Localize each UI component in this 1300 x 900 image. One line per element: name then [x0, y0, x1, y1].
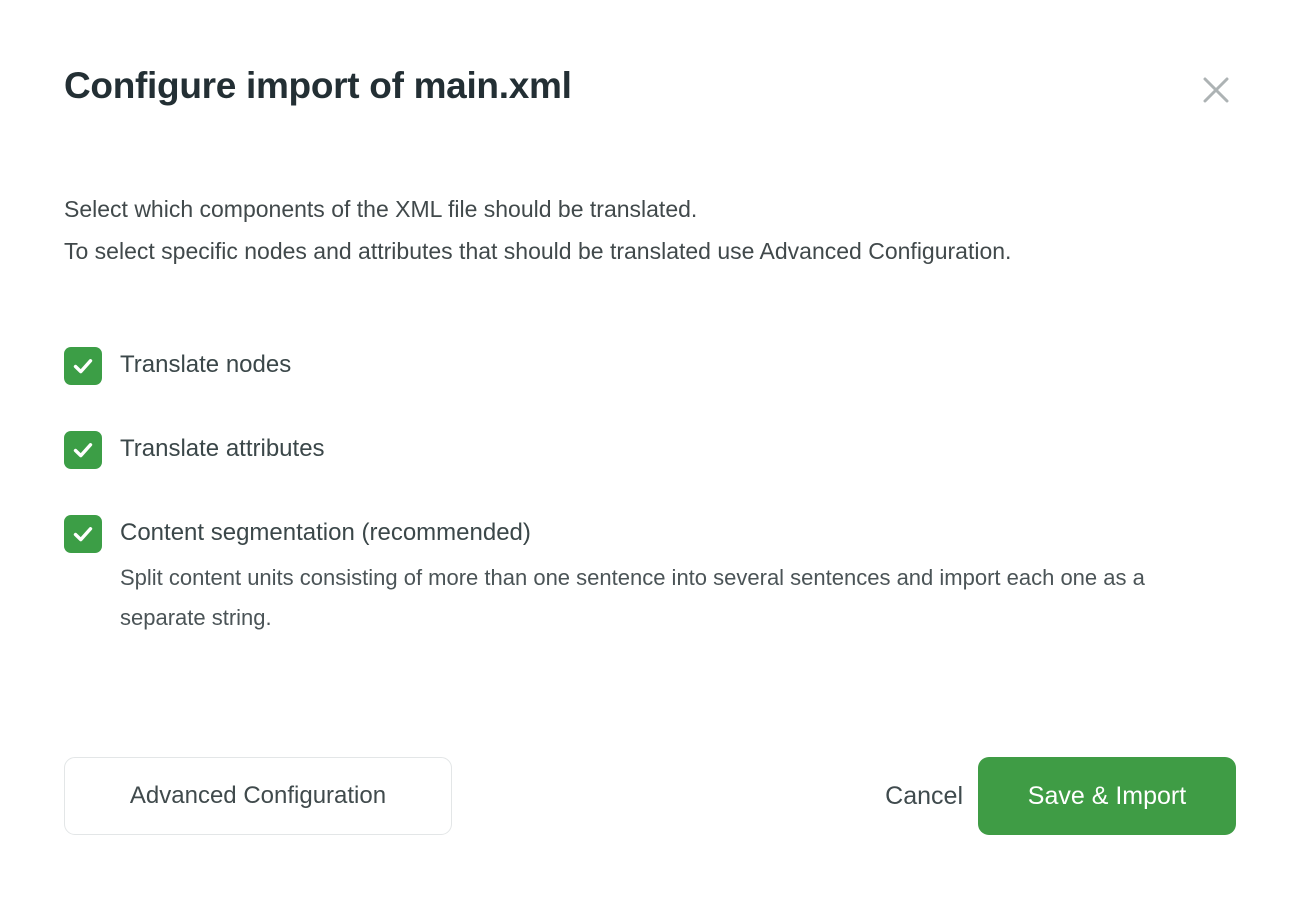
close-button[interactable] — [1196, 70, 1236, 110]
option-text-translate-attributes: Translate attributes — [120, 428, 325, 470]
option-label-content-segmentation[interactable]: Content segmentation (recommended) — [120, 512, 1225, 554]
option-translate-attributes[interactable]: Translate attributes — [64, 428, 1224, 470]
advanced-configuration-button[interactable]: Advanced Configuration — [64, 757, 452, 835]
description-line-1: Select which components of the XML file … — [64, 188, 1094, 230]
option-help-content-segmentation: Split content units consisting of more t… — [120, 558, 1225, 638]
option-text-translate-nodes: Translate nodes — [120, 344, 291, 386]
option-label-translate-attributes[interactable]: Translate attributes — [120, 428, 325, 470]
check-icon — [71, 522, 95, 546]
option-text-content-segmentation: Content segmentation (recommended) Split… — [120, 512, 1225, 638]
dialog-header: Configure import of main.xml — [64, 62, 1236, 122]
option-content-segmentation[interactable]: Content segmentation (recommended) Split… — [64, 512, 1224, 638]
save-and-import-button[interactable]: Save & Import — [978, 757, 1236, 835]
description-line-2: To select specific nodes and attributes … — [64, 230, 1094, 272]
page-title: Configure import of main.xml — [64, 62, 1236, 110]
check-icon — [71, 438, 95, 462]
option-label-translate-nodes[interactable]: Translate nodes — [120, 344, 291, 386]
options-list: Translate nodes Translate attributes — [64, 344, 1224, 638]
option-translate-nodes[interactable]: Translate nodes — [64, 344, 1224, 386]
dialog-description: Select which components of the XML file … — [64, 188, 1094, 272]
checkbox-content-segmentation[interactable] — [64, 515, 102, 553]
dialog-footer: Advanced Configuration Cancel Save & Imp… — [64, 757, 1236, 835]
checkbox-translate-nodes[interactable] — [64, 347, 102, 385]
check-icon — [71, 354, 95, 378]
checkbox-translate-attributes[interactable] — [64, 431, 102, 469]
cancel-button[interactable]: Cancel — [869, 757, 979, 835]
configure-import-dialog: Configure import of main.xml Select whic… — [0, 0, 1300, 900]
close-icon — [1203, 77, 1229, 103]
